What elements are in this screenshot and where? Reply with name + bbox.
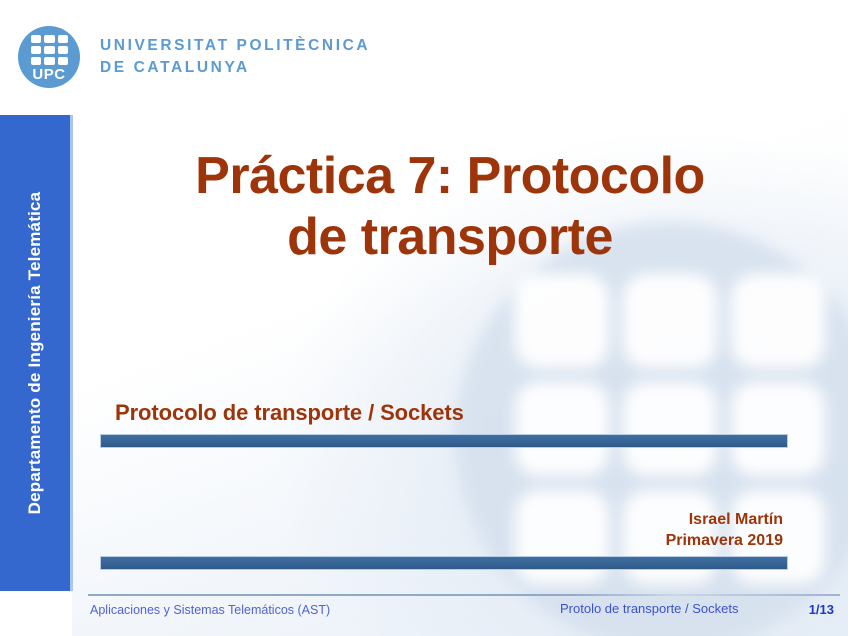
watermark-dot <box>515 382 609 476</box>
page-subtitle: Protocolo de transporte / Sockets <box>115 400 464 426</box>
logo-dot <box>44 35 54 43</box>
watermark-dot <box>731 274 825 368</box>
divider-bar-top <box>100 434 788 448</box>
footer-topic-label: Protolo de transporte / Sockets <box>560 601 738 616</box>
university-name: UNIVERSITAT POLITÈCNICA DE CATALUNYA <box>100 35 370 80</box>
author-name: Israel Martín <box>666 509 783 530</box>
page-title-line2: de transporte <box>100 207 800 268</box>
logo-dot <box>58 35 68 43</box>
logo-dot <box>31 57 41 65</box>
footer-course-label: Aplicaciones y Sistemas Telemáticos (AST… <box>90 603 330 617</box>
brand-header: UPC UNIVERSITAT POLITÈCNICA DE CATALUNYA <box>18 26 370 88</box>
watermark-dot <box>515 274 609 368</box>
watermark-dot <box>623 274 717 368</box>
divider-bar-bottom <box>100 556 788 570</box>
author-block: Israel Martín Primavera 2019 <box>666 509 783 551</box>
watermark-dot <box>623 382 717 476</box>
logo-dot <box>58 57 68 65</box>
author-term: Primavera 2019 <box>666 530 783 551</box>
department-label: Departamento de Ingeniería Telemática <box>25 192 45 515</box>
university-name-line1: UNIVERSITAT POLITÈCNICA <box>100 35 370 57</box>
footer-page-number: 1/13 <box>809 602 834 617</box>
logo-dot <box>58 46 68 54</box>
slide-canvas: UPC UNIVERSITAT POLITÈCNICA DE CATALUNYA… <box>0 0 848 636</box>
logo-dot <box>44 46 54 54</box>
logo-acronym: UPC <box>18 67 80 82</box>
upc-logo-watermark-icon <box>455 222 848 636</box>
watermark-circle <box>455 222 848 636</box>
logo-dot <box>31 35 41 43</box>
upc-logo-icon: UPC <box>18 26 80 88</box>
university-name-line2: DE CATALUNYA <box>100 57 370 79</box>
page-title: Práctica 7: Protocolo de transporte <box>100 146 800 269</box>
logo-dot <box>31 46 41 54</box>
watermark-dot <box>731 382 825 476</box>
logo-dot <box>44 57 54 65</box>
page-title-line1: Práctica 7: Protocolo <box>100 146 800 207</box>
department-sidebar: Departamento de Ingeniería Telemática <box>0 115 73 591</box>
logo-dot-grid <box>31 35 68 65</box>
footer-divider <box>88 594 840 596</box>
